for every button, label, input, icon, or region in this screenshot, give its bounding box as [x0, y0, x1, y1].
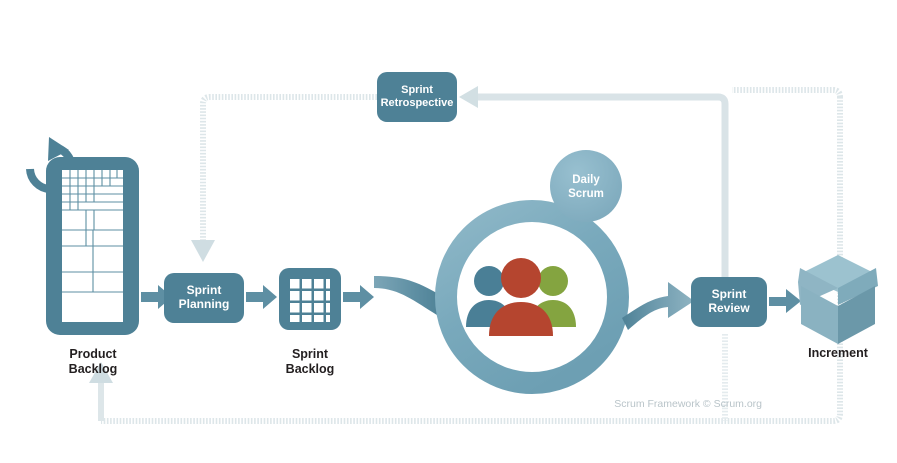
increment-loop-outer-line: [101, 97, 840, 421]
daily-scrum-label-line2: Scrum: [568, 188, 604, 200]
sprint-planning-node[interactable]: Sprint Planning: [164, 273, 244, 323]
sprint-backlog-node[interactable]: [279, 268, 341, 330]
sprint-retrospective-label-line1: Sprint: [401, 84, 433, 96]
review-to-retrospective-arrowhead: [459, 86, 478, 108]
sprint-ring: [446, 211, 618, 383]
planning-to-sprint-backlog-arrow: [246, 285, 277, 309]
daily-scrum-label-line1: Daily: [572, 174, 600, 186]
sprint-review-label-line1: Sprint: [712, 287, 747, 301]
sprint-review-node[interactable]: Sprint Review: [691, 277, 767, 327]
daily-scrum-shape: [550, 150, 622, 222]
sprint-planning-label-line2: Planning: [179, 297, 230, 311]
product-backlog-caption-line2: Backlog: [69, 362, 118, 376]
sprint-outflow-ribbon-arrow: [622, 282, 694, 330]
increment-caption: Increment: [808, 346, 869, 360]
sprint-backlog-to-sprint-arrow: [343, 285, 374, 309]
sprint-review-label-line2: Review: [708, 301, 750, 315]
sprint-backlog-caption-line1: Sprint: [292, 347, 329, 361]
retrospective-to-planning-connector: [191, 97, 377, 262]
review-to-increment-arrow: [769, 289, 801, 313]
increment-node[interactable]: [798, 255, 878, 344]
retrospective-to-planning-arrowhead: [191, 240, 215, 262]
scrum-framework-diagram: Product Backlog Sprint Planning: [0, 0, 897, 463]
increment-loop-top-segment: [732, 90, 840, 97]
daily-scrum-node[interactable]: Daily Scrum: [550, 150, 622, 222]
product-backlog-node[interactable]: [46, 157, 139, 335]
scrum-team-node[interactable]: 1 Scrum Team: [446, 211, 618, 409]
attribution-text: Scrum Framework © Scrum.org: [614, 398, 762, 410]
retrospective-to-planning-line: [203, 97, 377, 240]
sprint-planning-label-line1: Sprint: [187, 283, 222, 297]
team-people-icon: [466, 258, 576, 336]
sprint-retrospective-label-line2: Retrospective: [381, 97, 454, 109]
sprint-retrospective-node[interactable]: Sprint Retrospective: [377, 72, 457, 122]
diagram-canvas: Product Backlog Sprint Planning: [0, 0, 897, 463]
sprint-inflow-ribbon: [374, 276, 442, 318]
product-backlog-caption-line1: Product: [69, 347, 117, 361]
sprint-backlog-caption-line2: Backlog: [286, 362, 335, 376]
